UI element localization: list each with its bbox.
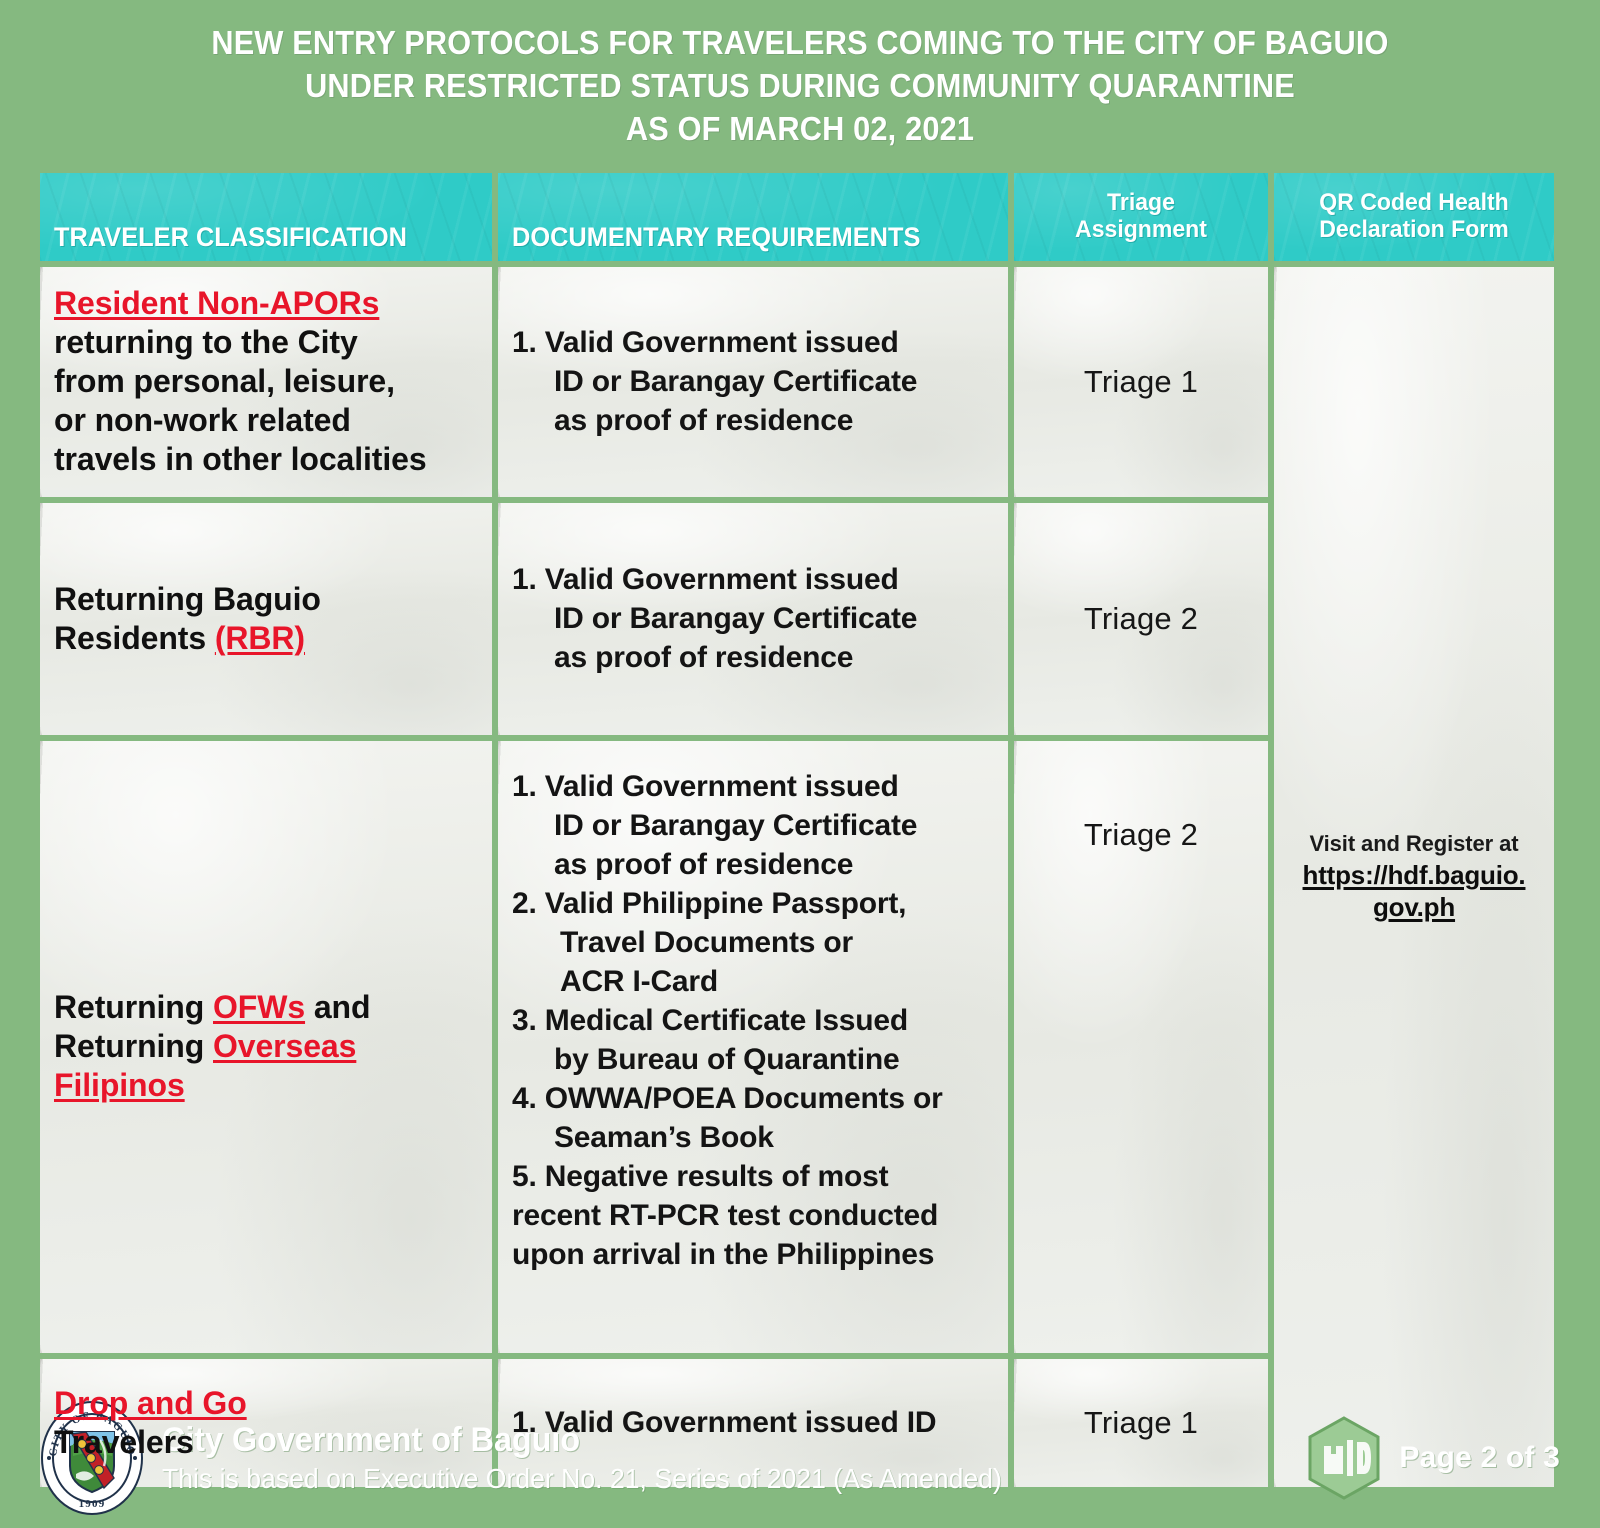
cell-requirements-row-2: 1. Valid Government issued ID or Baranga…: [498, 503, 1008, 735]
table-row: Resident Non-APORs returning to the City…: [40, 267, 1554, 497]
qr-header-line-2: Declaration Form: [1319, 216, 1508, 243]
requirement-item: 5. Negative results of most recent RT-PC…: [512, 1157, 994, 1274]
page-title-line-3: AS OF MARCH 02, 2021: [93, 108, 1507, 151]
page-title-line-2: UNDER RESTRICTED STATUS DURING COMMUNITY…: [93, 65, 1507, 108]
classification-line: Residents: [54, 620, 215, 656]
requirement-item: 3. Medical Certificate Issued by Bureau …: [512, 1001, 994, 1079]
classification-highlight-resident-non-apors: Resident Non-APORs: [54, 285, 379, 321]
classification-highlight-filipinos: Filipinos: [54, 1067, 185, 1103]
page-title-line-1: NEW ENTRY PROTOCOLS FOR TRAVELERS COMING…: [93, 22, 1507, 65]
legal-basis-text: This is based on Executive Order No. 21,…: [162, 1462, 1002, 1496]
mid-logo-icon: [1307, 1416, 1381, 1500]
classification-line: or non-work related: [54, 402, 351, 438]
protocols-table: TRAVELER CLASSIFICATION DOCUMENTARY REQU…: [34, 167, 1560, 1493]
footer-page-info: Page 2 of 3: [1307, 1416, 1560, 1500]
column-header-documentary-requirements: DOCUMENTARY REQUIREMENTS: [498, 173, 1008, 261]
cell-triage-row-1: Triage 1: [1014, 267, 1268, 497]
cell-requirements-row-1: 1. Valid Government issued ID or Baranga…: [498, 267, 1008, 497]
classification-highlight-overseas: Overseas: [213, 1028, 356, 1064]
classification-highlight-rbr: (RBR): [215, 620, 305, 656]
classification-line: travels in other localities: [54, 441, 427, 477]
protocols-table-wrap: TRAVELER CLASSIFICATION DOCUMENTARY REQU…: [40, 167, 1560, 1493]
triage-value: Triage 2: [1028, 817, 1254, 853]
triage-header-line-1: Triage: [1107, 189, 1175, 216]
cell-classification-row-1: Resident Non-APORs returning to the City…: [40, 267, 492, 497]
cell-classification-row-3: Returning OFWs and Returning Overseas Fi…: [40, 741, 492, 1353]
requirement-item: 1. Valid Government issued ID: [512, 1403, 994, 1442]
cell-triage-row-2: Triage 2: [1014, 503, 1268, 735]
requirement-item: 2. Valid Philippine Passport, Travel Doc…: [512, 884, 994, 1001]
column-header-triage-assignment: Triage Assignment: [1014, 173, 1268, 261]
qr-header-line-1: QR Coded Health: [1319, 189, 1508, 216]
classification-highlight-drop-and-go: Drop and Go: [54, 1385, 247, 1421]
cell-classification-row-2: Returning Baguio Residents (RBR): [40, 503, 492, 735]
classification-line: from personal, leisure,: [54, 363, 395, 399]
requirement-item: 4. OWWA/POEA Documents or Seaman’s Book: [512, 1079, 994, 1157]
column-header-qr-health-declaration: QR Coded Health Declaration Form: [1274, 173, 1554, 261]
column-header-traveler-classification: TRAVELER CLASSIFICATION: [40, 173, 492, 261]
requirement-item: 1. Valid Government issued ID or Baranga…: [512, 560, 994, 677]
cell-qr-health-declaration: Visit and Register at https://hdf.baguio…: [1274, 267, 1554, 1487]
hdf-registration-link[interactable]: https://hdf.baguio. gov.ph: [1303, 859, 1526, 923]
requirement-item: 1. Valid Government issued ID or Baranga…: [512, 767, 994, 884]
classification-line: returning to the City: [54, 324, 358, 360]
page-title-block: NEW ENTRY PROTOCOLS FOR TRAVELERS COMING…: [0, 0, 1600, 161]
cell-triage-row-3: Triage 2: [1014, 741, 1268, 1353]
requirement-item: 1. Valid Government issued ID or Baranga…: [512, 323, 994, 440]
qr-lead-text: Visit and Register at: [1288, 830, 1540, 858]
hdf-url-line-2: gov.ph: [1373, 892, 1455, 922]
table-header-row: TRAVELER CLASSIFICATION DOCUMENTARY REQU…: [40, 173, 1554, 261]
triage-value: Triage 1: [1028, 364, 1254, 400]
classification-line: Travelers: [54, 1424, 194, 1460]
classification-highlight-ofws: OFWs: [213, 989, 305, 1025]
cell-requirements-row-3: 1. Valid Government issued ID or Baranga…: [498, 741, 1008, 1353]
classification-line: Returning Baguio: [54, 581, 321, 617]
svg-text:1909: 1909: [79, 1498, 106, 1510]
triage-value: Triage 2: [1028, 601, 1254, 637]
triage-value: Triage 1: [1028, 1405, 1254, 1441]
page-number-label: Page 2 of 3: [1399, 1441, 1560, 1475]
hdf-url-line-1: https://hdf.baguio.: [1303, 860, 1526, 890]
triage-header-line-2: Assignment: [1075, 216, 1207, 243]
